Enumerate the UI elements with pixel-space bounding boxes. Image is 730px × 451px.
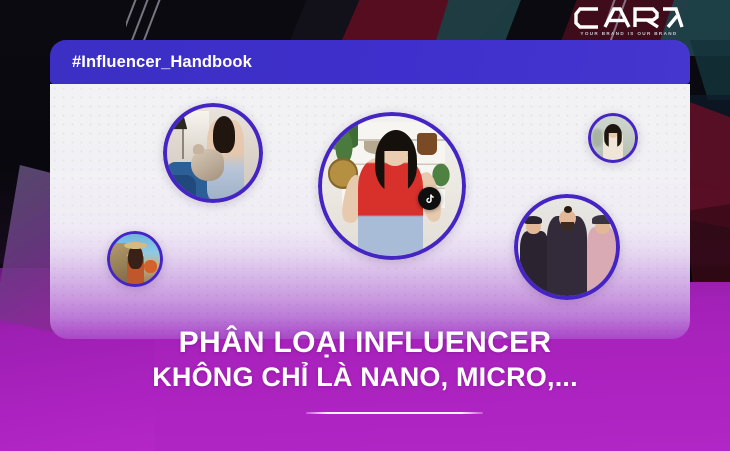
avatar-photo bbox=[167, 107, 259, 199]
cara-logo: YOUR BRAND IS OUR BRAND bbox=[566, 6, 692, 42]
cara-wordmark-icon bbox=[573, 6, 685, 30]
headline-line-1: PHÂN LOẠI INFLUENCER bbox=[0, 326, 730, 360]
headline-underline bbox=[306, 412, 483, 414]
logo-tagline: YOUR BRAND IS OUR BRAND bbox=[580, 31, 677, 36]
avatar-dance-crew[interactable] bbox=[514, 194, 620, 300]
hashtag-label: #Influencer_Handbook bbox=[72, 53, 252, 72]
avatar-woman-with-cat[interactable] bbox=[163, 103, 263, 203]
avatar-photo bbox=[518, 198, 616, 296]
hashtag-header-bar: #Influencer_Handbook bbox=[50, 40, 690, 84]
avatar-photo bbox=[322, 116, 462, 256]
headline-line-2: KHÔNG CHỈ LÀ NANO, MICRO,... bbox=[0, 362, 730, 394]
avatar-photo bbox=[591, 116, 635, 160]
avatar-photo bbox=[110, 234, 160, 284]
avatar-woman-outdoor[interactable] bbox=[588, 113, 638, 163]
avatar-woman-straw-hat[interactable] bbox=[107, 231, 163, 287]
avatar-woman-red-top[interactable] bbox=[318, 112, 466, 260]
slide-canvas: YOUR BRAND IS OUR BRAND #Influencer_Hand… bbox=[0, 0, 730, 451]
headline-block: PHÂN LOẠI INFLUENCER KHÔNG CHỈ LÀ NANO, … bbox=[0, 326, 730, 393]
tiktok-icon[interactable] bbox=[418, 187, 441, 210]
